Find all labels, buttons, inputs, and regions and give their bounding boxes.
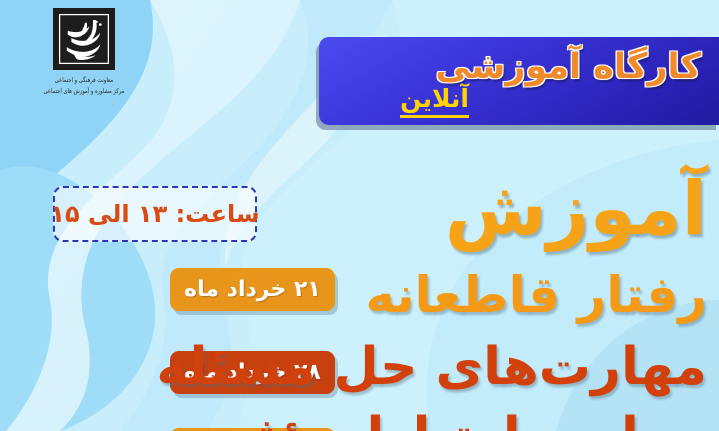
header-banner: کارگاه آموزشی آنلاین (319, 37, 719, 125)
logo-caption-line-2: مرکز مشاوره و آموزش های اجتماعی (14, 87, 154, 98)
time-label: ساعت: ۱۳ الی ۱۵ (50, 200, 259, 228)
workshop-poster: معاونت فرهنگی و اجتماعی مرکز مشاوره و آم… (0, 0, 719, 431)
emblem-calligraphy (56, 11, 112, 67)
headline-topic-3: مهارت ارتباط مؤثر (224, 407, 707, 431)
headline-primary: آموزش (445, 166, 707, 252)
date-chip-1: ۲۱ خرداد ماه (170, 268, 335, 311)
university-emblem-icon (53, 8, 115, 70)
banner-title: کارگاه آموزشی (435, 47, 701, 87)
logo-caption-line-1: معاونت فرهنگی و اجتماعی (14, 76, 154, 87)
banner-title-row: کارگاه آموزشی (337, 47, 701, 87)
headline-topic-2: مهارت‌های حل مسئله (156, 337, 707, 397)
headline-topic-1: رفتار قاطعانه (365, 266, 707, 324)
university-logo: معاونت فرهنگی و اجتماعی مرکز مشاوره و آم… (14, 8, 154, 97)
banner-subtitle-online: آنلاین (400, 85, 469, 118)
date-chip-label: ۲۱ خرداد ماه (184, 277, 321, 302)
time-box: ساعت: ۱۳ الی ۱۵ (53, 186, 257, 242)
